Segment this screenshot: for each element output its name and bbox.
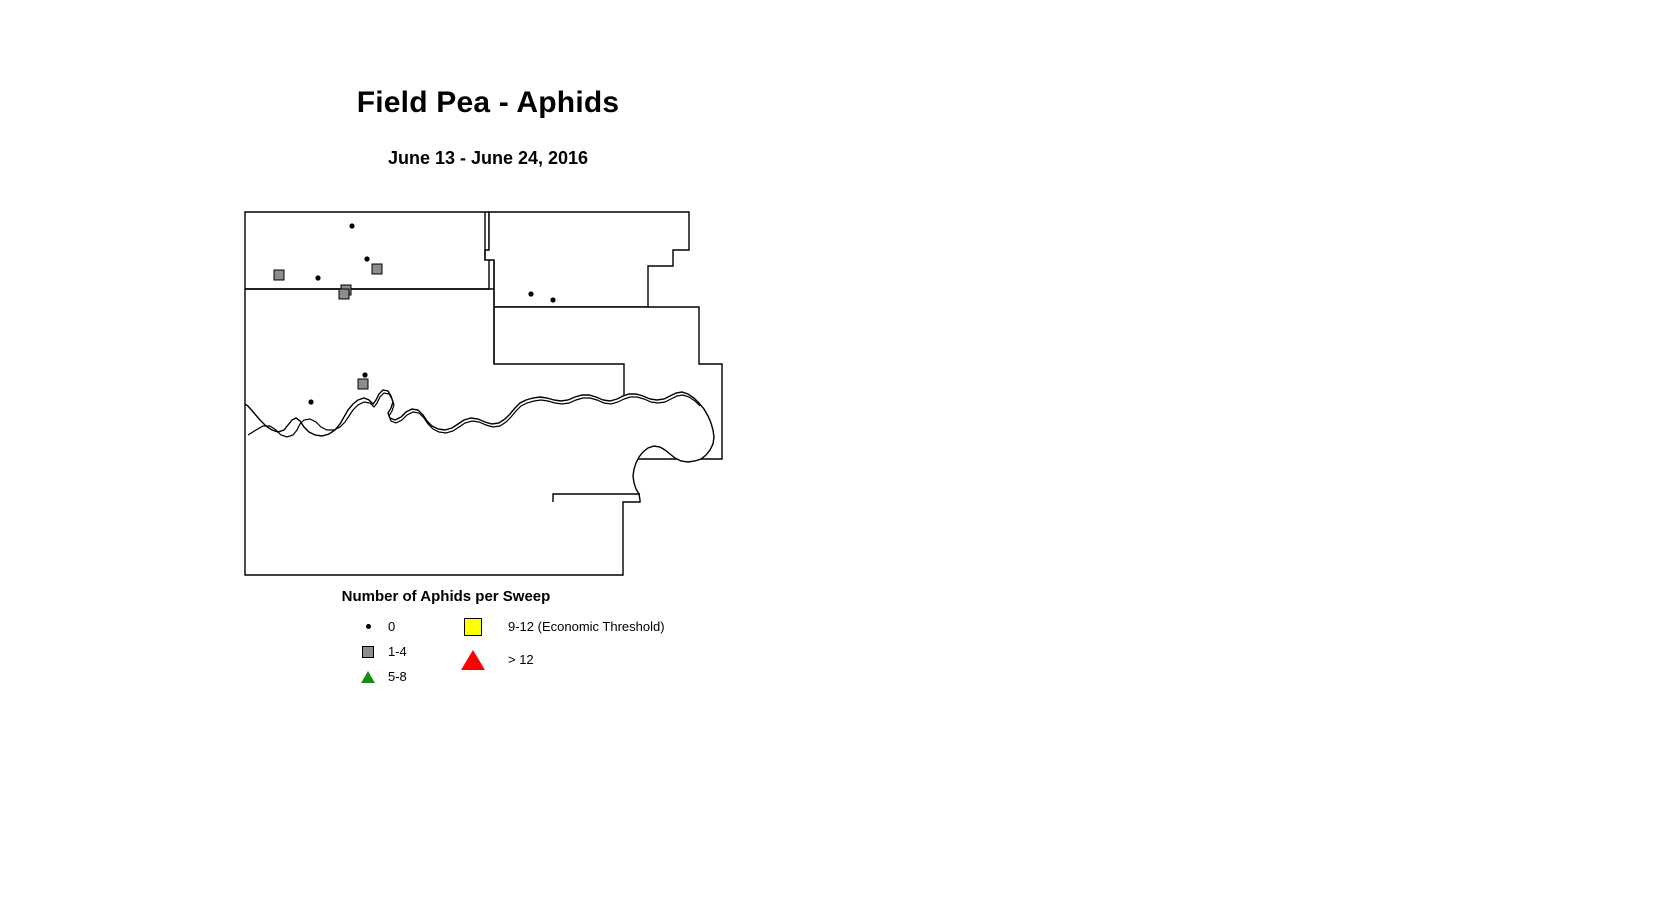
- red-triangle-icon: [456, 650, 490, 670]
- legend-item-label: 5-8: [388, 669, 407, 684]
- gray-square-icon: [354, 646, 382, 658]
- map-region-northeast: [485, 212, 689, 307]
- map-container: [236, 204, 736, 594]
- legend-item-0[interactable]: 0: [354, 614, 407, 639]
- page-title: Field Pea - Aphids: [0, 86, 976, 119]
- map-marker-0[interactable]: [349, 223, 354, 228]
- map-marker-0[interactable]: [362, 372, 367, 377]
- legend-item-5-8[interactable]: 5-8: [354, 664, 407, 689]
- yellow-square-icon: [456, 618, 490, 636]
- legend-item-label: 1-4: [388, 644, 407, 659]
- legend-item-label: 9-12 (Economic Threshold): [508, 619, 665, 634]
- map-marker-0[interactable]: [364, 256, 369, 261]
- map-marker-1-4[interactable]: [372, 264, 382, 274]
- map-marker-0[interactable]: [308, 399, 313, 404]
- map-page: Field Pea - Aphids June 13 - June 24, 20…: [0, 0, 1673, 900]
- legend-item-1-4[interactable]: 1-4: [354, 639, 407, 664]
- legend-item-9-12[interactable]: 9-12 (Economic Threshold): [456, 614, 665, 639]
- legend-title: Number of Aphids per Sweep: [236, 588, 656, 605]
- green-triangle-icon: [354, 671, 382, 683]
- map-marker-1-4[interactable]: [274, 270, 284, 280]
- legend-item-over-12[interactable]: > 12: [456, 647, 665, 672]
- dot-icon: [354, 624, 382, 629]
- map-marker-1-4[interactable]: [358, 379, 368, 389]
- map-marker-0[interactable]: [315, 275, 320, 280]
- page-subtitle: June 13 - June 24, 2016: [0, 148, 976, 169]
- legend-item-label: > 12: [508, 652, 534, 667]
- legend-column-right: 9-12 (Economic Threshold) > 12: [456, 614, 665, 680]
- title-block: Field Pea - Aphids: [0, 86, 976, 119]
- map-legend: Number of Aphids per Sweep 0 1-4 5-8 9-1…: [236, 588, 796, 708]
- legend-column-left: 0 1-4 5-8: [354, 614, 407, 689]
- map-marker-0[interactable]: [550, 297, 555, 302]
- map-marker-1-4[interactable]: [339, 289, 349, 299]
- legend-item-label: 0: [388, 619, 395, 634]
- county-map: [236, 204, 736, 594]
- map-marker-0[interactable]: [528, 291, 533, 296]
